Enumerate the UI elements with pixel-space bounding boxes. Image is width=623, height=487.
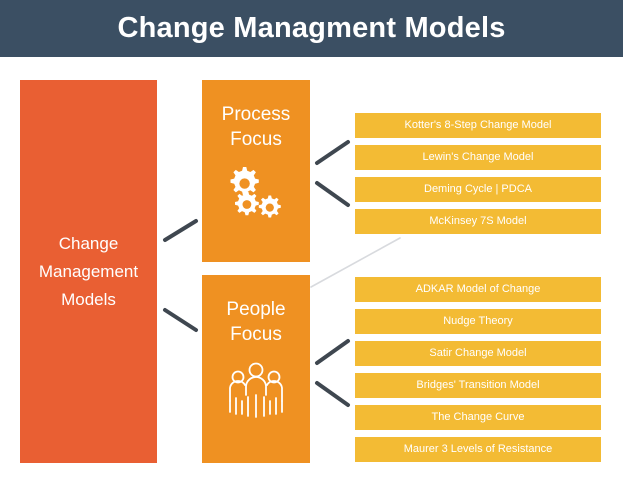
root-node-label: Change Management Models [20, 230, 157, 314]
page-title: Change Managment Models [0, 9, 623, 47]
model-bar-label: Bridges' Transition Model [416, 379, 539, 392]
model-bar-label: Deming Cycle | PDCA [424, 183, 532, 196]
connector-process-lower [317, 183, 348, 205]
model-bar-label: Satir Change Model [429, 347, 526, 360]
model-bar[interactable]: The Change Curve [355, 405, 601, 430]
model-bar[interactable]: Satir Change Model [355, 341, 601, 366]
model-bar-label: Nudge Theory [443, 315, 513, 328]
root-node-change-management-models[interactable]: Change Management Models [20, 80, 157, 463]
people-group-icon [225, 361, 287, 426]
model-bar-label: Maurer 3 Levels of Resistance [404, 443, 553, 456]
model-bar-label: Lewin's Change Model [423, 151, 534, 164]
connector-process-upper [317, 142, 348, 163]
connector-root-to-process [165, 221, 196, 240]
connector-people-upper [317, 341, 348, 363]
model-bar[interactable]: McKinsey 7S Model [355, 209, 601, 234]
branch-label-process-focus: Process Focus [222, 102, 291, 152]
branch-label-people-focus: People Focus [226, 297, 285, 347]
connector-root-to-people [165, 310, 196, 330]
model-bar-label: The Change Curve [432, 411, 525, 424]
change-management-models-infographic: Change Managment Models Change Managemen… [0, 0, 623, 487]
model-bar[interactable]: Kotter's 8-Step Change Model [355, 113, 601, 138]
model-bar[interactable]: Deming Cycle | PDCA [355, 177, 601, 202]
model-bar-label: ADKAR Model of Change [416, 283, 541, 296]
connector-people-lower [317, 383, 348, 405]
gears-icon [225, 164, 287, 224]
model-bar[interactable]: Nudge Theory [355, 309, 601, 334]
model-bar[interactable]: ADKAR Model of Change [355, 277, 601, 302]
model-bar[interactable]: Lewin's Change Model [355, 145, 601, 170]
model-bar-label: Kotter's 8-Step Change Model [404, 119, 551, 132]
model-bar[interactable]: Bridges' Transition Model [355, 373, 601, 398]
model-bar[interactable]: Maurer 3 Levels of Resistance [355, 437, 601, 462]
branch-node-people-focus[interactable]: People Focus [202, 275, 310, 463]
branch-node-process-focus[interactable]: Process Focus [202, 80, 310, 262]
model-bar-label: McKinsey 7S Model [429, 215, 526, 228]
